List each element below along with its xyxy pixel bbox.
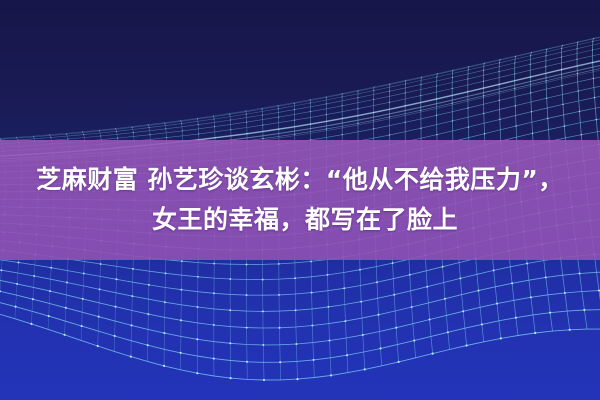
headline-line-2: 女王的幸福，都写在了脸上 bbox=[142, 201, 458, 239]
headline-block: 芝麻财富 孙艺珍谈玄彬：“他从不给我压力”， 女王的幸福，都写在了脸上 bbox=[0, 140, 600, 260]
banner-image: 芝麻财富 孙艺珍谈玄彬：“他从不给我压力”， 女王的幸福，都写在了脸上 bbox=[0, 0, 600, 400]
headline-line-1: 芝麻财富 孙艺珍谈玄彬：“他从不给我压力”， bbox=[36, 161, 564, 199]
